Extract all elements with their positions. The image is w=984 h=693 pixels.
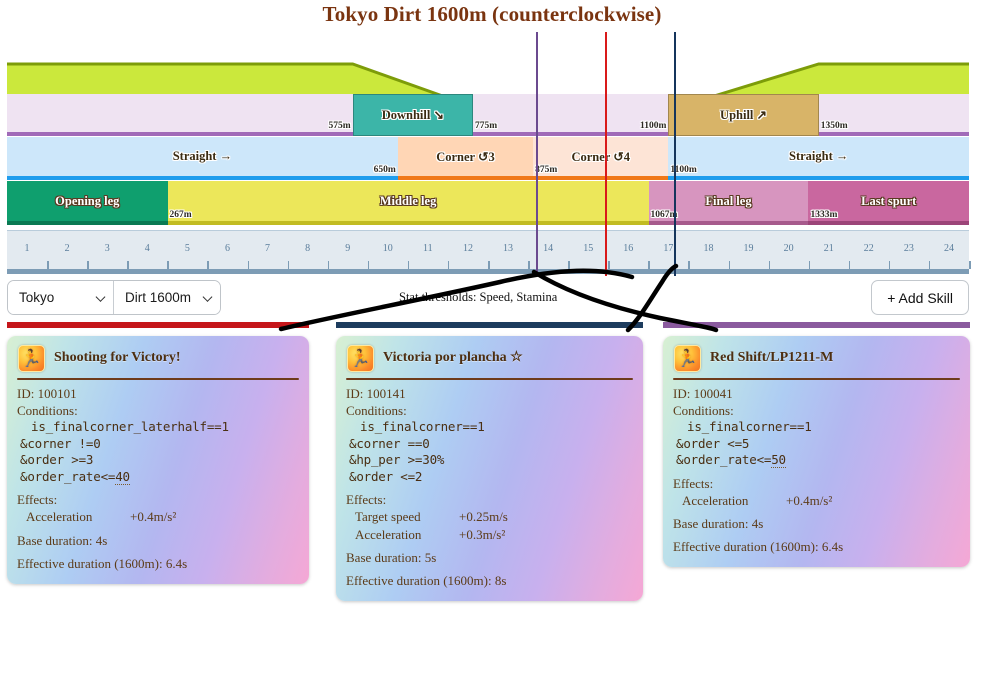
ruler-tick-label: 14 <box>543 243 553 254</box>
running-figure-glyph: 🏃 <box>677 350 698 367</box>
base-duration: Base duration: 4s <box>673 515 960 532</box>
ruler-tick-label: 13 <box>503 243 513 254</box>
track-select-value: Tokyo <box>19 290 54 305</box>
effect-name: Target speed <box>355 508 459 525</box>
condition-line: &corner ==0 <box>346 436 633 453</box>
ruler-tick <box>769 261 771 269</box>
condition-value: 40 <box>115 469 130 485</box>
conditions-label: Conditions: <box>17 402 299 419</box>
running-figure-icon: 🏃 <box>18 345 45 372</box>
ruler-tick <box>248 261 250 269</box>
condition-line: is_finalcorner==1 <box>346 419 633 436</box>
skill-marker-line <box>674 32 676 276</box>
skill-accent-bar <box>663 322 970 328</box>
stat-thresholds-label: Stat thresholds: Speed, Stamina <box>399 290 557 305</box>
skill-marker-line <box>536 32 538 276</box>
effect-name: Acceleration <box>355 526 459 543</box>
track-segment: Downhill ↘ <box>353 94 473 136</box>
condition-line: &order <=5 <box>673 436 960 453</box>
track-segment-label: Opening leg <box>55 194 119 209</box>
track-segment: Final leg <box>649 181 809 225</box>
skill-card-header: 🏃Victoria por plancha ☆ <box>346 344 633 378</box>
track-segment-label: Middle leg <box>380 194 437 209</box>
ruler-tick <box>47 261 49 269</box>
skill-marker-line <box>605 32 607 276</box>
track-segment: Corner ↺4 <box>533 137 668 180</box>
ruler-tick-label: 9 <box>345 243 350 254</box>
ruler-tick <box>809 261 811 269</box>
track-segment-label: Straight → <box>173 149 232 164</box>
controls-row: Tokyo Dirt 1600m Stat thresholds: Speed,… <box>7 280 969 316</box>
terrain-band <box>7 94 969 136</box>
ruler-tick-label: 16 <box>623 243 633 254</box>
ruler-tick-label: 10 <box>383 243 393 254</box>
ruler-tick <box>127 261 129 269</box>
track-segment-label: Last spurt <box>861 194 916 209</box>
skill-id: ID: 100041 <box>673 385 960 402</box>
track-segment-label: Uphill ↗ <box>720 107 767 123</box>
ruler-tick <box>889 261 891 269</box>
condition-line: &order_rate<=40 <box>17 469 299 486</box>
skill-card[interactable]: 🏃Shooting for Victory!ID: 100101Conditio… <box>7 336 309 584</box>
ruler-tick-label: 1 <box>25 243 30 254</box>
running-figure-glyph: 🏃 <box>21 350 42 367</box>
track-segment-label: Final leg <box>705 194 751 209</box>
ruler-tick <box>568 261 570 269</box>
effect-name: Acceleration <box>26 508 130 525</box>
ruler-tick-label: 3 <box>105 243 110 254</box>
divider <box>17 378 299 380</box>
ruler-tick <box>608 261 610 269</box>
track-segment: Straight → <box>668 137 969 180</box>
ruler-tick-label: 7 <box>265 243 270 254</box>
skill-id: ID: 100101 <box>17 385 299 402</box>
ruler-tick-label: 19 <box>744 243 754 254</box>
ruler-tick <box>408 261 410 269</box>
effect-value: +0.4m/s² <box>786 492 832 509</box>
ruler-tick <box>729 261 731 269</box>
skill-name: Red Shift/LP1211-M <box>710 349 833 367</box>
effect-value: +0.25m/s <box>459 508 508 525</box>
ruler-tick-label: 2 <box>65 243 70 254</box>
effects-label: Effects: <box>346 491 633 508</box>
base-duration: Base duration: 4s <box>17 532 299 549</box>
effective-duration: Effective duration (1600m): 6.4s <box>17 555 299 572</box>
ruler-tick <box>648 261 650 269</box>
ruler-tick <box>528 261 530 269</box>
condition-line: &order <=2 <box>346 469 633 486</box>
conditions-label: Conditions: <box>673 402 960 419</box>
ruler-tick <box>288 261 290 269</box>
effect-row: Acceleration+0.4m/s² <box>673 492 960 509</box>
page-title: Tokyo Dirt 1600m (counterclockwise) <box>0 2 984 27</box>
running-figure-glyph: 🏃 <box>350 350 371 367</box>
ruler-tick-label: 12 <box>463 243 473 254</box>
effect-value: +0.4m/s² <box>130 508 176 525</box>
conditions-label: Conditions: <box>346 402 633 419</box>
ruler-tick <box>929 261 931 269</box>
slope-row: Downhill ↘Uphill ↗575m775m1100m1350m <box>7 94 969 136</box>
ruler-tick-label: 22 <box>864 243 874 254</box>
condition-line: &order >=3 <box>17 452 299 469</box>
ruler-tick <box>207 261 209 269</box>
condition-line: is_finalcorner_laterhalf==1 <box>17 419 299 436</box>
divider <box>673 378 960 380</box>
ruler-tick-label: 8 <box>305 243 310 254</box>
divider <box>346 378 633 380</box>
ruler-tick <box>87 261 89 269</box>
effective-duration: Effective duration (1600m): 8s <box>346 572 633 589</box>
skill-card-header: 🏃Red Shift/LP1211-M <box>673 344 960 378</box>
base-duration: Base duration: 5s <box>346 549 633 566</box>
track-segment: Corner ↺3 <box>398 137 533 180</box>
ruler-tick <box>448 261 450 269</box>
running-figure-icon: 🏃 <box>347 345 374 372</box>
track-segment-label: Corner ↺4 <box>571 149 630 165</box>
track-segment-label: Straight → <box>789 149 848 164</box>
ruler-tick-label: 4 <box>145 243 150 254</box>
effective-duration: Effective duration (1600m): 6.4s <box>673 538 960 555</box>
skill-card-header: 🏃Shooting for Victory! <box>17 344 299 378</box>
skill-accent-bar <box>336 322 643 328</box>
ruler-tick <box>488 261 490 269</box>
track-segment-label: Corner ↺3 <box>436 149 495 165</box>
effects-label: Effects: <box>673 475 960 492</box>
track-select[interactable]: Tokyo <box>8 281 113 314</box>
ruler-tick <box>167 261 169 269</box>
condition-line: &order_rate<=50 <box>673 452 960 469</box>
ruler-tick-label: 18 <box>703 243 713 254</box>
skill-card-wrapper: 🏃Red Shift/LP1211-MID: 100041Conditions:… <box>663 322 970 567</box>
ruler-tick-label: 23 <box>904 243 914 254</box>
effect-row: Acceleration+0.3m/s² <box>346 526 633 543</box>
effects-label: Effects: <box>17 491 299 508</box>
ruler-tick-label: 6 <box>225 243 230 254</box>
track-segment: Last spurt <box>808 181 969 225</box>
add-skill-button[interactable]: + Add Skill <box>871 280 969 315</box>
track-segment: Uphill ↗ <box>668 94 818 136</box>
ruler-tick <box>688 261 690 269</box>
course-select[interactable]: Dirt 1600m <box>113 281 220 314</box>
effect-name: Acceleration <box>682 492 786 509</box>
skill-accent-bar <box>7 322 309 328</box>
track-segment: Opening leg <box>7 181 168 225</box>
ruler-tick-label: 11 <box>423 243 433 254</box>
ruler-tick-label: 17 <box>663 243 673 254</box>
ruler-tick <box>368 261 370 269</box>
corner-row: Straight →Corner ↺3Corner ↺4Straight →65… <box>7 137 969 180</box>
effect-value: +0.3m/s² <box>459 526 505 543</box>
ruler-tick <box>969 261 971 269</box>
skill-id: ID: 100141 <box>346 385 633 402</box>
chevron-down-icon <box>203 292 213 302</box>
effect-row: Target speed+0.25m/s <box>346 508 633 525</box>
leg-row: Opening legMiddle legFinal legLast spurt… <box>7 181 969 225</box>
track-segment: Straight → <box>7 137 398 180</box>
condition-line: &hp_per >=30% <box>346 452 633 469</box>
course-selectors: Tokyo Dirt 1600m <box>7 280 221 315</box>
course-diagram: Downhill ↘Uphill ↗575m775m1100m1350m Str… <box>7 34 969 276</box>
track-segment-label: Downhill ↘ <box>382 107 444 123</box>
ruler-tick-label: 24 <box>944 243 954 254</box>
condition-line: is_finalcorner==1 <box>673 419 960 436</box>
ruler-tick-label: 5 <box>185 243 190 254</box>
ruler-tick <box>849 261 851 269</box>
running-figure-icon: 🏃 <box>674 345 701 372</box>
skill-card-wrapper: 🏃Victoria por plancha ☆ID: 100141Conditi… <box>336 322 643 601</box>
ruler-tick-label: 20 <box>784 243 794 254</box>
track-segment: Middle leg <box>168 181 649 225</box>
ruler-tick-label: 15 <box>583 243 593 254</box>
condition-line: &corner !=0 <box>17 436 299 453</box>
course-select-value: Dirt 1600m <box>125 290 191 305</box>
skill-name: Shooting for Victory! <box>54 349 181 367</box>
ruler-bar <box>7 269 969 274</box>
distance-ruler: 123456789101112131415161718192021222324 <box>7 230 969 274</box>
skill-name: Victoria por plancha ☆ <box>383 349 523 367</box>
skill-card-wrapper: 🏃Shooting for Victory!ID: 100101Conditio… <box>7 322 309 584</box>
chevron-down-icon <box>96 292 106 302</box>
skill-card[interactable]: 🏃Victoria por plancha ☆ID: 100141Conditi… <box>336 336 643 601</box>
ruler-tick-label: 21 <box>824 243 834 254</box>
skill-card[interactable]: 🏃Red Shift/LP1211-MID: 100041Conditions:… <box>663 336 970 567</box>
ruler-tick <box>328 261 330 269</box>
condition-value: 50 <box>771 452 786 468</box>
effect-row: Acceleration+0.4m/s² <box>17 508 299 525</box>
